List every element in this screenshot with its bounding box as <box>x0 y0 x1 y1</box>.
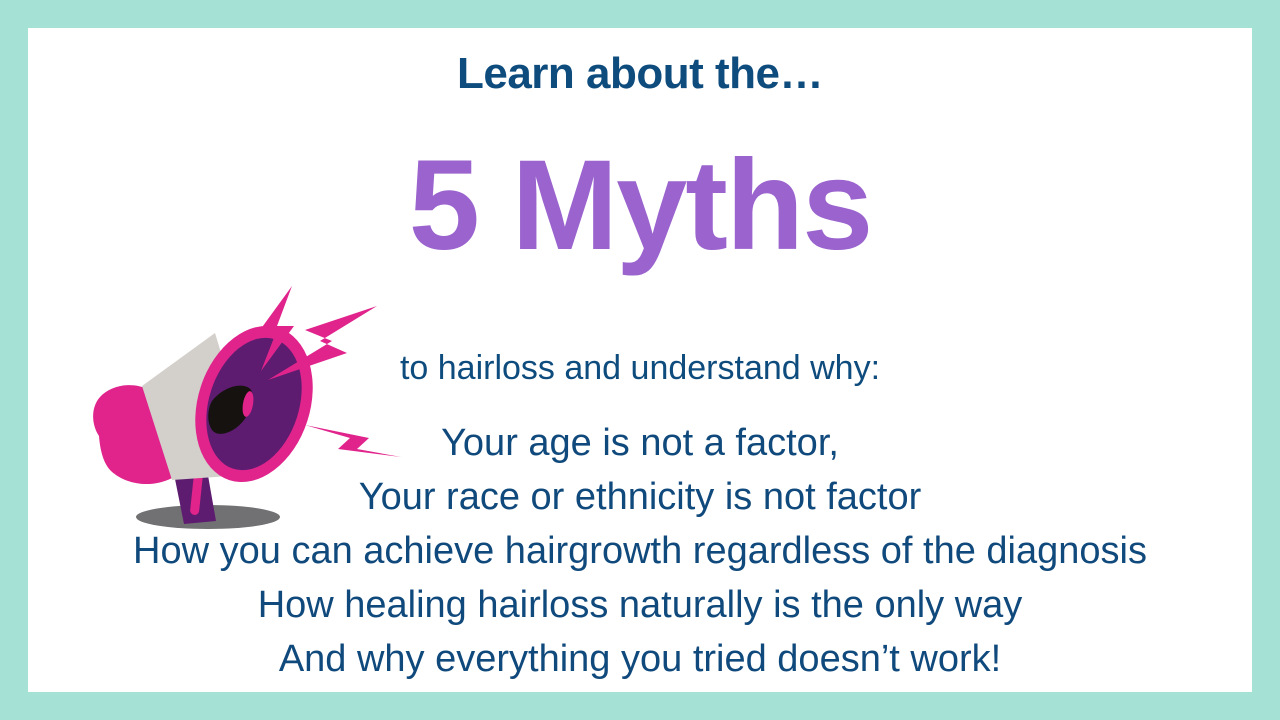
list-item: And why everything you tried doesn’t wor… <box>28 632 1252 686</box>
slide-canvas: Learn about the… 5 Myths to hairloss and… <box>0 0 1280 720</box>
megaphone-illustration <box>88 268 408 538</box>
slide-inner-white-area: Learn about the… 5 Myths to hairloss and… <box>28 28 1252 692</box>
list-item: How healing hairloss naturally is the on… <box>28 578 1252 632</box>
headline-myth-count: 5 Myths <box>28 136 1252 277</box>
page-title: Learn about the… <box>28 50 1252 98</box>
sound-bolt-lower <box>305 425 401 457</box>
